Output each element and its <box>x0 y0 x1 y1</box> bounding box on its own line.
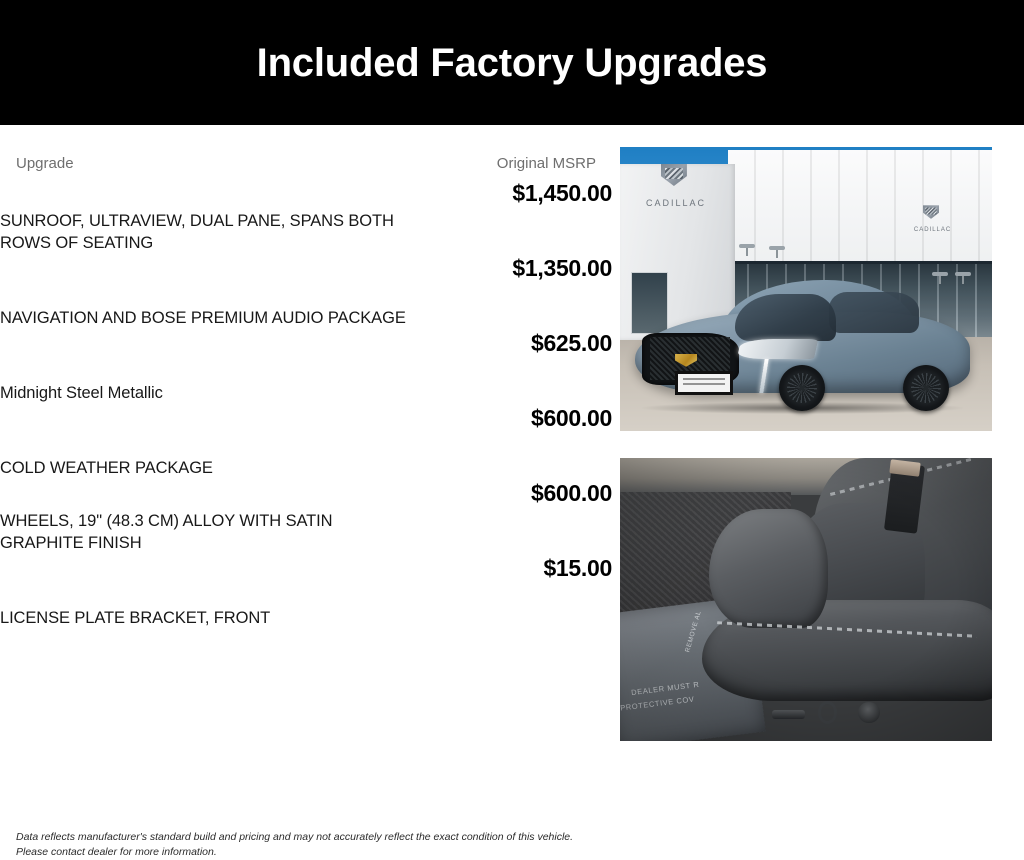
photo-vignette <box>620 458 992 741</box>
disclaimer-text: Data reflects manufacturer's standard bu… <box>16 830 601 860</box>
page-header: Included Factory Upgrades <box>0 0 1024 125</box>
upgrades-table: Upgrade Original MSRP SUNROOF, ULTRAVIEW… <box>0 125 612 630</box>
upgrade-name: COLD WEATHER PACKAGE <box>0 405 420 480</box>
vehicle-exterior-photo[interactable]: CADILLAC CADILLAC <box>620 147 992 431</box>
dealership-wordmark: CADILLAC <box>646 198 706 208</box>
vehicle-headlight <box>737 339 818 359</box>
front-license-plate <box>675 371 733 395</box>
vehicle-rear-wheel <box>903 365 949 411</box>
upgrade-name: SUNROOF, ULTRAVIEW, DUAL PANE, SPANS BOT… <box>0 180 420 255</box>
page-title: Included Factory Upgrades <box>257 43 768 83</box>
upgrades-page: Included Factory Upgrades Upgrade Origin… <box>0 0 1024 768</box>
column-header-upgrade: Upgrade <box>0 125 420 180</box>
upgrade-price: $15.00 <box>420 555 612 630</box>
vehicle-windshield <box>735 294 835 341</box>
upgrade-price: $600.00 <box>420 405 612 480</box>
upgrade-name: NAVIGATION AND BOSE PREMIUM AUDIO PACKAG… <box>0 255 420 330</box>
interior-scene: DEALER MUST R PROTECTIVE COV REMOVE AL <box>620 458 992 741</box>
vehicle-interior-photo[interactable]: DEALER MUST R PROTECTIVE COV REMOVE AL <box>620 458 992 741</box>
upgrade-price: $1,350.00 <box>420 255 612 330</box>
exterior-scene: CADILLAC CADILLAC <box>620 147 992 431</box>
upgrade-price: $625.00 <box>420 330 612 405</box>
upgrades-table-body: SUNROOF, ULTRAVIEW, DUAL PANE, SPANS BOT… <box>0 180 612 630</box>
table-row: SUNROOF, ULTRAVIEW, DUAL PANE, SPANS BOT… <box>0 180 612 255</box>
upgrade-name: Midnight Steel Metallic <box>0 330 420 405</box>
vehicle-body <box>635 280 970 411</box>
table-row: WHEELS, 19" (48.3 CM) ALLOY WITH SATIN G… <box>0 480 612 555</box>
table-row: LICENSE PLATE BRACKET, FRONT $15.00 <box>0 555 612 630</box>
column-header-msrp: Original MSRP <box>420 125 612 180</box>
upgrades-table-section: Upgrade Original MSRP SUNROOF, ULTRAVIEW… <box>0 125 612 768</box>
table-row: NAVIGATION AND BOSE PREMIUM AUDIO PACKAG… <box>0 255 612 330</box>
upgrade-price: $600.00 <box>420 480 612 555</box>
vehicle-side-window <box>829 292 919 332</box>
lot-light-icon <box>769 246 785 258</box>
table-row: Midnight Steel Metallic $625.00 <box>0 330 612 405</box>
upgrade-name: LICENSE PLATE BRACKET, FRONT <box>0 555 420 630</box>
upgrade-name: WHEELS, 19" (48.3 CM) ALLOY WITH SATIN G… <box>0 480 420 555</box>
lot-light-icon <box>739 244 755 256</box>
table-row: COLD WEATHER PACKAGE $600.00 <box>0 405 612 480</box>
vehicle-front-wheel <box>779 365 825 411</box>
dealership-wordmark-secondary: CADILLAC <box>914 227 951 233</box>
table-header-row: Upgrade Original MSRP <box>0 125 612 180</box>
upgrade-price: $1,450.00 <box>420 180 612 255</box>
